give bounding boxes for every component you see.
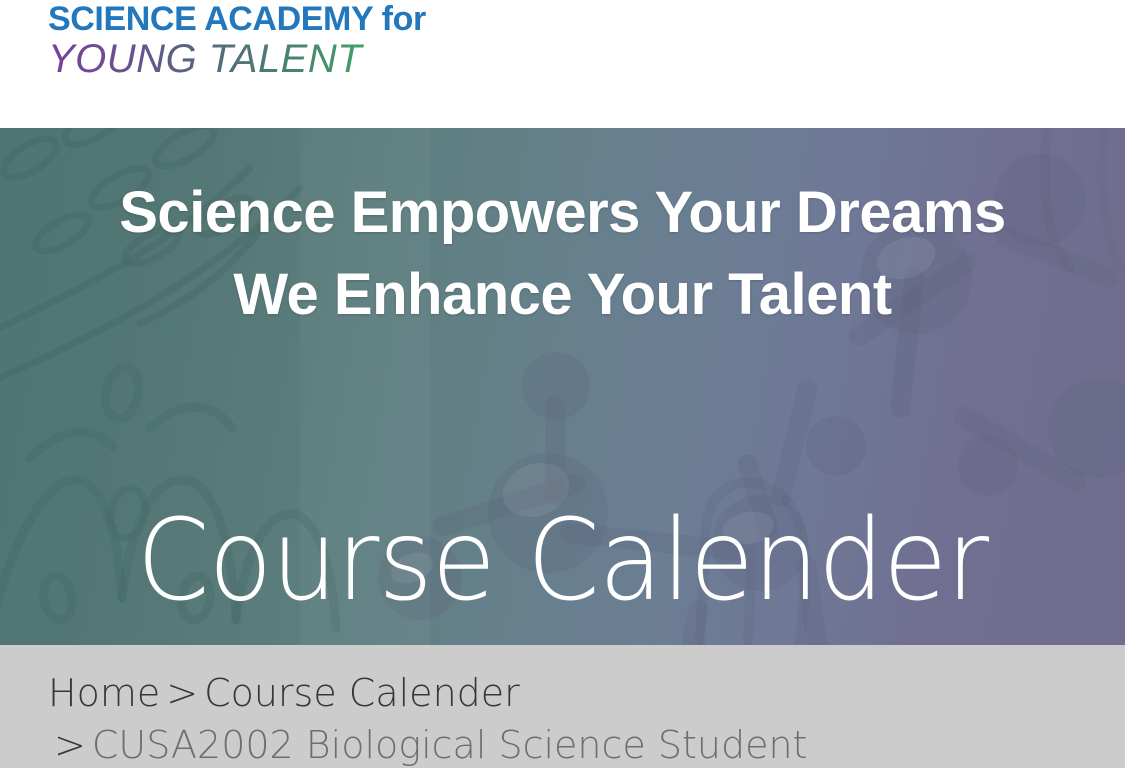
hero-tagline-line-1: Science Empowers Your Dreams — [0, 172, 1125, 254]
hero-tagline-line-2: We Enhance Your Talent — [0, 254, 1125, 336]
hero-content: Science Empowers Your Dreams We Enhance … — [0, 128, 1125, 645]
breadcrumb-item-course[interactable]: CUSA2002 Biological Science Student — [92, 723, 808, 767]
breadcrumb-sub-separator-icon: > — [48, 723, 92, 767]
breadcrumb-bar: Home>Course Calender >CUSA2002 Biologica… — [0, 645, 1125, 768]
breadcrumb-sub: >CUSA2002 Biological Science Student — [48, 719, 807, 768]
breadcrumb-item-current: Course Calender — [204, 671, 520, 715]
page-title: Course Calender — [39, 503, 1085, 621]
logo-line-young-talent: YOUNG TALENT — [48, 39, 426, 79]
site-logo[interactable]: SCIENCE ACADEMY for YOUNG TALENT — [48, 2, 426, 79]
breadcrumb: Home>Course Calender — [48, 667, 520, 719]
hero-banner: Science Empowers Your Dreams We Enhance … — [0, 128, 1125, 645]
hero-tagline: Science Empowers Your Dreams We Enhance … — [0, 172, 1125, 337]
breadcrumb-separator-icon: > — [160, 671, 204, 715]
breadcrumb-item-home[interactable]: Home — [48, 671, 160, 715]
site-header: SCIENCE ACADEMY for YOUNG TALENT — [0, 0, 1125, 128]
logo-line-science-academy: SCIENCE ACADEMY for — [48, 2, 426, 36]
